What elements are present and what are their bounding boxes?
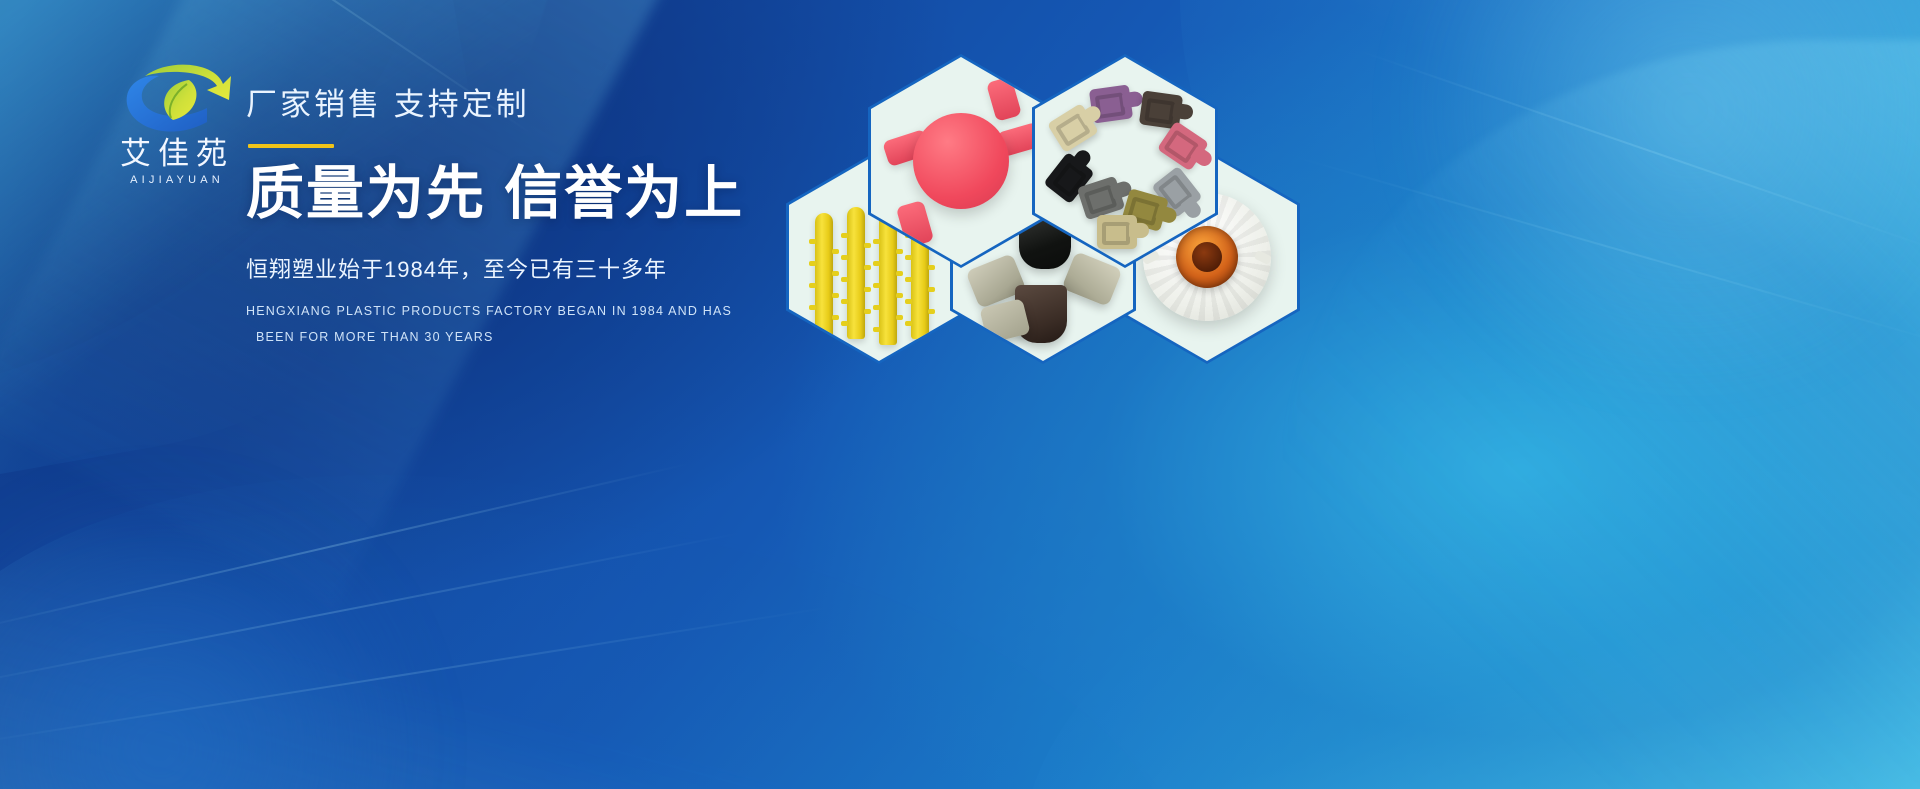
hero-banner: 艾佳苑 AIJIAYUAN 厂家销售 支持定制 质量为先 信誉为上 恒翔塑业始于… bbox=[0, 0, 1920, 789]
product-hexagon-cluster bbox=[800, 40, 1320, 370]
junction-box-body bbox=[913, 113, 1009, 209]
leaf-swoosh-logo-icon bbox=[111, 56, 243, 136]
junction-box-arm bbox=[986, 76, 1022, 122]
wall-anchor-item bbox=[847, 207, 865, 339]
hero-divider bbox=[248, 144, 334, 148]
wall-anchor-item bbox=[815, 213, 833, 345]
buckle-hook-item bbox=[1097, 215, 1137, 249]
lamp-holder-socket-core bbox=[1192, 242, 1222, 272]
wall-anchor-item bbox=[879, 213, 897, 345]
background-swoosh-bottom-right bbox=[1020, 469, 1920, 789]
buckle-hook-item bbox=[1047, 103, 1099, 153]
background-glow-top-right bbox=[1340, 0, 1920, 380]
background-glow-bottom-left bbox=[0, 489, 480, 789]
buckle-hook-item bbox=[1157, 121, 1209, 172]
